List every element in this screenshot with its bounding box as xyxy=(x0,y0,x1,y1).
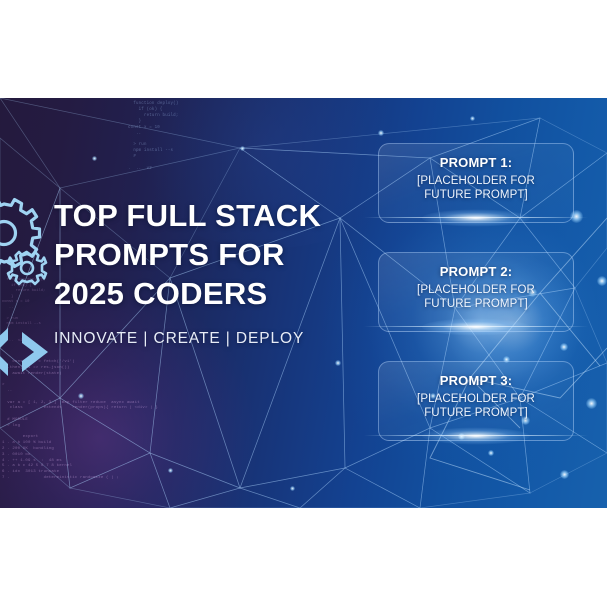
headline-line-1: TOP FULL STACK xyxy=(54,198,321,233)
mesh-node xyxy=(378,130,384,136)
prompt-card-body: [PLACEHOLDER FOR FUTURE PROMPT] xyxy=(393,175,559,202)
prompt-card-body: [PLACEHOLDER FOR FUTURE PROMPT] xyxy=(393,393,559,420)
prompt-card-title: PROMPT 3: xyxy=(393,373,559,388)
prompt-card-body-line-1: [PLACEHOLDER FOR xyxy=(417,284,535,296)
mesh-node xyxy=(78,393,84,399)
mesh-node xyxy=(240,146,245,151)
mesh-node xyxy=(488,450,494,456)
prompt-card-slot: PROMPT 2: [PLACEHOLDER FOR FUTURE PROMPT… xyxy=(378,252,574,332)
headline-block: TOP FULL STACK PROMPTS FOR 2025 CODERS I… xyxy=(54,196,364,348)
page-title: TOP FULL STACK PROMPTS FOR 2025 CODERS xyxy=(54,196,364,313)
prompt-card-list: PROMPT 1: [PLACEHOLDER FOR FUTURE PROMPT… xyxy=(378,143,574,441)
promo-banner: function deploy() if (ok) { return build… xyxy=(0,98,607,508)
prompt-card-2[interactable]: PROMPT 2: [PLACEHOLDER FOR FUTURE PROMPT… xyxy=(378,252,574,332)
decorative-code-top: function deploy() if (ok) { return build… xyxy=(128,102,178,173)
prompt-card-body-line-1: [PLACEHOLDER FOR xyxy=(417,393,535,405)
gear-icon xyxy=(0,200,40,267)
mesh-node xyxy=(335,360,341,366)
decorative-code-bottom: const api = fetch('/v1') .then(res => re… xyxy=(2,360,158,482)
subheadline: INNOVATE | CREATE | DEPLOY xyxy=(54,330,364,348)
prompt-card-slot: PROMPT 1: [PLACEHOLDER FOR FUTURE PROMPT… xyxy=(378,143,574,223)
mesh-node xyxy=(470,116,475,121)
mesh-node xyxy=(597,276,607,286)
headline-line-3: 2025 CODERS xyxy=(54,276,268,311)
prompt-card-body-line-1: [PLACEHOLDER FOR xyxy=(417,175,535,187)
prompt-card-slot: PROMPT 3: [PLACEHOLDER FOR FUTURE PROMPT… xyxy=(378,361,574,441)
prompt-card-title: PROMPT 2: xyxy=(393,264,559,279)
decorative-code-midleft: function deploy() if (ok) { return build… xyxy=(2,278,45,344)
small-gear-icon xyxy=(8,252,46,284)
image-canvas: function deploy() if (ok) { return build… xyxy=(0,0,607,607)
prompt-card-body: [PLACEHOLDER FOR FUTURE PROMPT] xyxy=(393,284,559,311)
mesh-node xyxy=(586,398,597,409)
prompt-card-body-line-2: FUTURE PROMPT] xyxy=(424,407,528,419)
mesh-node xyxy=(168,468,173,473)
prompt-card-body-line-2: FUTURE PROMPT] xyxy=(424,298,528,310)
mesh-node xyxy=(290,486,295,491)
prompt-card-1[interactable]: PROMPT 1: [PLACEHOLDER FOR FUTURE PROMPT… xyxy=(378,143,574,223)
prompt-card-3[interactable]: PROMPT 3: [PLACEHOLDER FOR FUTURE PROMPT… xyxy=(378,361,574,441)
headline-line-2: PROMPTS FOR xyxy=(54,237,285,272)
mesh-node xyxy=(560,470,569,479)
mesh-node xyxy=(92,156,97,161)
prompt-card-body-line-2: FUTURE PROMPT] xyxy=(424,189,528,201)
prompt-card-title: PROMPT 1: xyxy=(393,155,559,170)
